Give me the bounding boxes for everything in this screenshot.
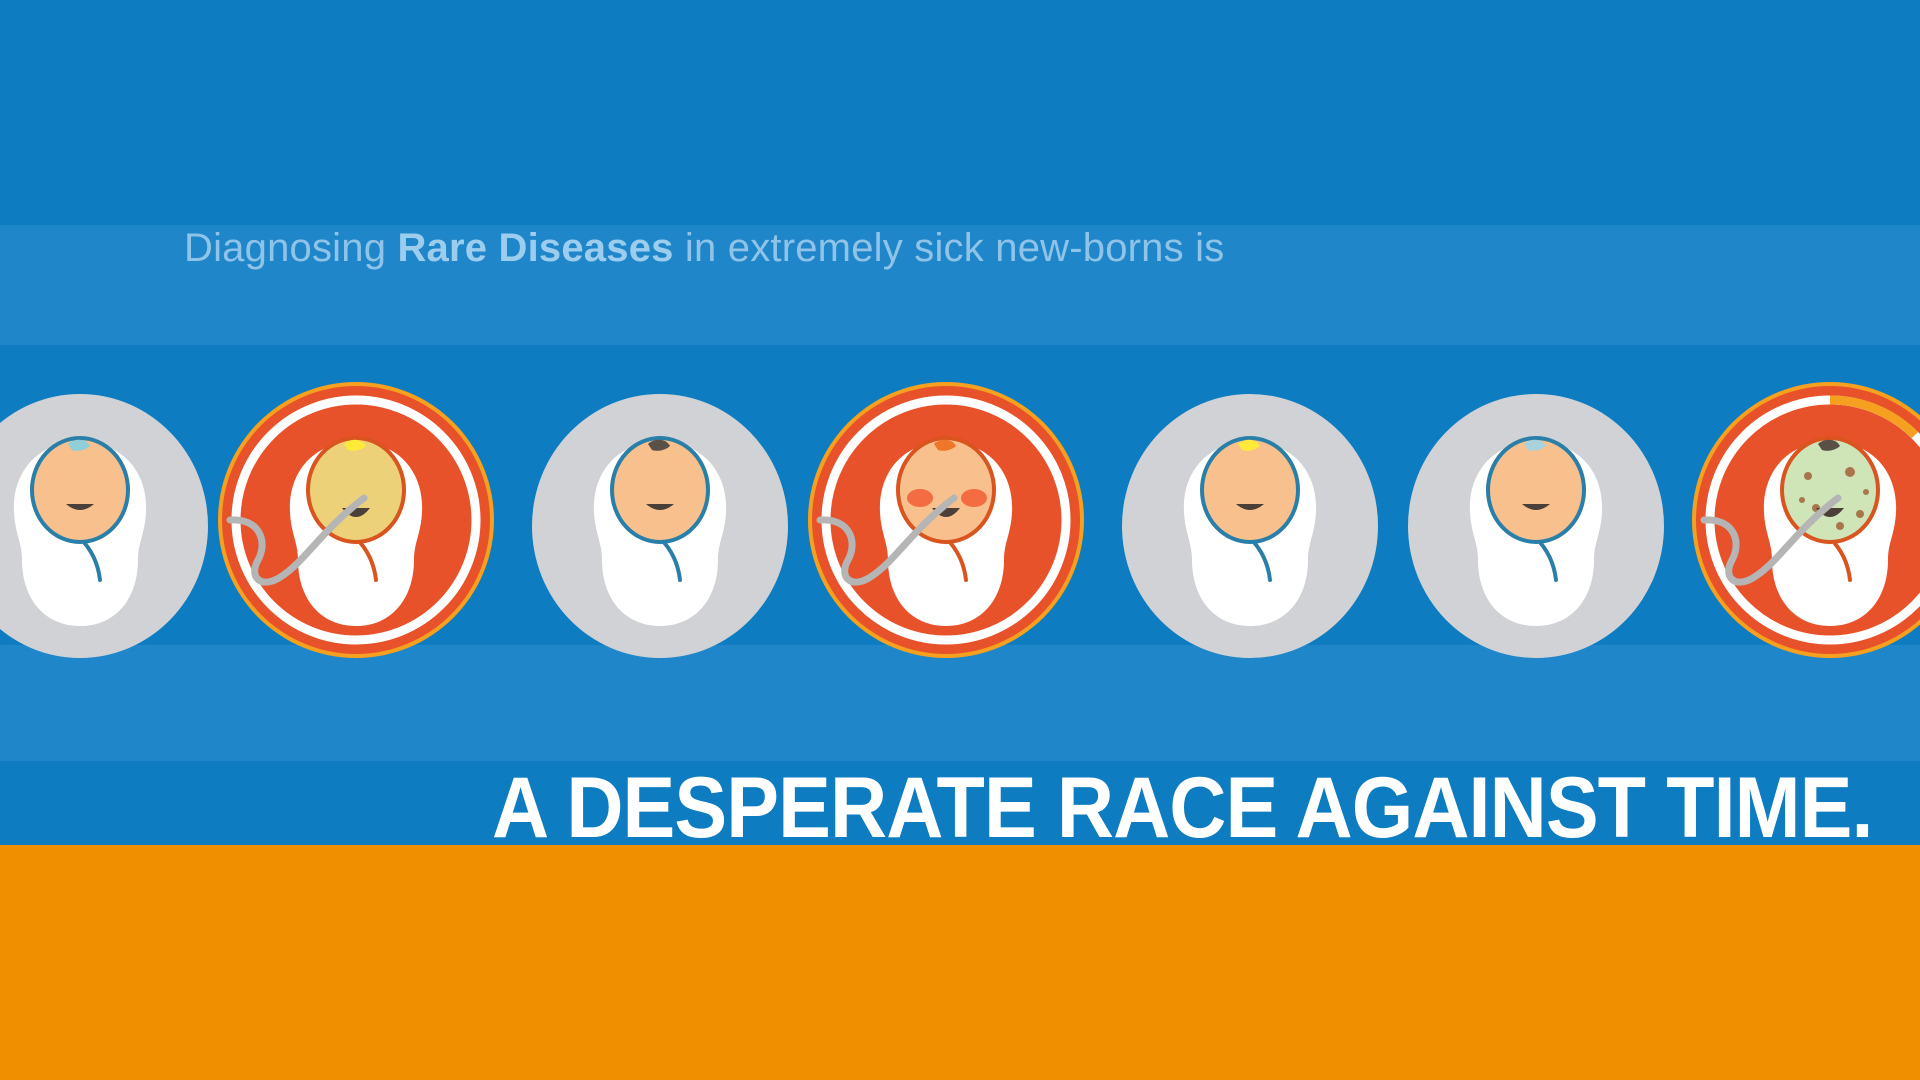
headline-top: Diagnosing Rare Diseases in extremely si…	[184, 228, 1224, 268]
headline-top-prefix: Diagnosing	[184, 226, 397, 270]
baby-icon-row	[0, 380, 1920, 660]
baby-icon-critical	[806, 380, 1086, 660]
headline-bottom: A DESPERATE RACE AGAINST TIME.	[492, 765, 1873, 851]
baby-icon-healthy	[1396, 380, 1676, 660]
background-band-lower	[0, 645, 1920, 761]
headline-top-emphasis: Rare Diseases	[397, 226, 673, 270]
baby-icon-healthy	[1110, 380, 1390, 660]
slide-canvas: Diagnosing Rare Diseases in extremely si…	[0, 0, 1920, 1080]
footer-bar	[0, 845, 1920, 1080]
baby-icon-healthy	[520, 380, 800, 660]
baby-icon-healthy	[0, 380, 220, 660]
headline-top-suffix: in extremely sick new-borns is	[674, 226, 1225, 270]
baby-icon-critical	[216, 380, 496, 660]
baby-icon-critical	[1690, 380, 1920, 660]
